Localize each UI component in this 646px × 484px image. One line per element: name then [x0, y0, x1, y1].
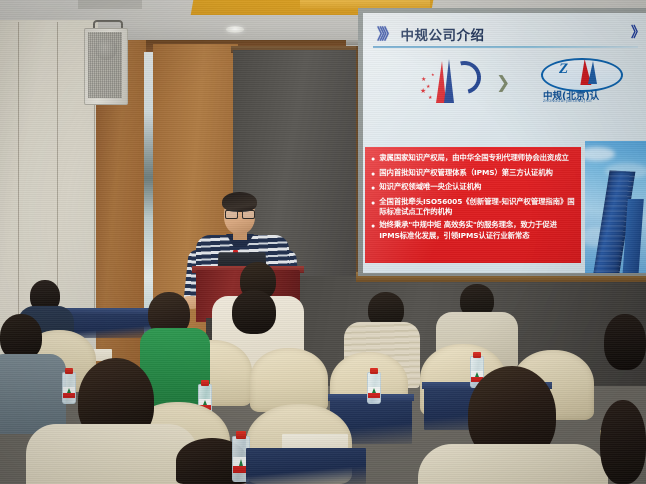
bottle-cap — [65, 368, 73, 374]
bottle-leaf-icon — [67, 388, 71, 393]
table-front — [246, 448, 366, 484]
eyeglasses-icon — [225, 210, 254, 217]
audience-body — [418, 444, 608, 484]
slide-bullet-item: ● 全国首批牵头ISO56005《创新管理-知识产权管理指南》国际标准试点工作的… — [371, 197, 577, 218]
slide-bullet-item: ● 知识产权领域唯一央企认证机构 — [371, 182, 577, 194]
slide-bullet-panel: ● 隶属国家知识产权局，由中华全国专利代理师协会出资成立 ● 国内首批知识产权管… — [365, 147, 581, 263]
bottle-leaf-icon — [475, 372, 479, 377]
projection-screen: 》》 中规公司介绍 》 ★ ★ ★ ★ ★ ❯ Z 中规(北京) — [363, 13, 646, 273]
bullet-dot-icon: ● — [371, 153, 375, 165]
water-bottle — [62, 372, 76, 404]
audience-body — [0, 354, 66, 434]
bullet-dot-icon: ● — [371, 197, 375, 209]
zhonggui-logo-en-text: ZHONGGUI (BEIJING) CE — [543, 99, 592, 103]
cnipa-sail-logo-icon: ★ ★ ★ ★ ★ — [419, 57, 477, 105]
bullet-text: 知识产权领域唯一央企认证机构 — [379, 182, 481, 193]
slide-title-row: 》》 中规公司介绍 — [377, 23, 485, 44]
bottle-cap — [473, 352, 481, 358]
slide-bullet-item: ● 隶属国家知识产权局，由中华全国专利代理师协会出资成立 — [371, 153, 577, 165]
chair — [250, 348, 328, 412]
bullet-dot-icon: ● — [371, 182, 375, 194]
ceiling-downlight-icon — [226, 26, 244, 33]
bottle-leaf-icon — [203, 400, 207, 405]
speaker-cone-icon — [95, 38, 117, 60]
arrow-right-icon: ❯ — [496, 73, 510, 93]
audience-body — [26, 424, 198, 484]
audience-head — [604, 314, 646, 370]
water-bottle — [367, 372, 381, 404]
bottle-leaf-icon — [239, 459, 243, 466]
audience-head — [600, 400, 646, 484]
slide-bullet-item: ● 始终秉承"中规中矩 高效务实"的服务理念，致力于促进IPMS标准化发展，引领… — [371, 220, 577, 241]
bullet-dot-icon: ● — [371, 220, 375, 232]
bottle-leaf-icon — [372, 388, 376, 393]
zhonggui-logo-icon: Z 中规(北京)认 ZHONGGUI (BEIJING) CE — [541, 57, 646, 107]
slide-title: 中规公司介绍 — [401, 24, 485, 44]
bottle-cap — [236, 431, 246, 439]
bottle-cap — [370, 368, 378, 374]
corner-chevron-icon: 》 — [631, 22, 645, 42]
bullet-text: 全国首批牵头ISO56005《创新管理-知识产权管理指南》国际标准试点工作的机构 — [379, 197, 577, 218]
title-divider — [373, 46, 638, 48]
audience-head — [232, 290, 276, 334]
bullet-text: 隶属国家知识产权局，由中华全国专利代理师协会出资成立 — [379, 153, 569, 164]
slide-logo-row: ★ ★ ★ ★ ★ ❯ Z 中规(北京)认 ZHONGGUI (BEIJING)… — [363, 55, 646, 107]
bullet-dot-icon: ● — [371, 168, 375, 180]
presentation-room-photo: 》》 中规公司介绍 》 ★ ★ ★ ★ ★ ❯ Z 中规(北京) — [0, 0, 646, 484]
bottle-cap — [201, 380, 209, 386]
slide-bullet-list: ● 隶属国家知识产权局，由中华全国专利代理师协会出资成立 ● 国内首批知识产权管… — [371, 153, 577, 244]
bullet-text: 始终秉承"中规中矩 高效务实"的服务理念，致力于促进IPMS标准化发展，引领IP… — [379, 220, 577, 241]
chevron-right-icon: 》》 — [377, 23, 394, 44]
zhonggui-z-letter: Z — [559, 61, 568, 78]
presenter-hair — [222, 192, 257, 212]
bullet-text: 国内首批知识产权管理体系（IPMS）第三方认证机构 — [379, 168, 553, 179]
slide-bullet-item: ● 国内首批知识产权管理体系（IPMS）第三方认证机构 — [371, 168, 577, 180]
slide-skyscraper-photo — [585, 141, 646, 273]
ceiling-vent — [78, 0, 142, 9]
